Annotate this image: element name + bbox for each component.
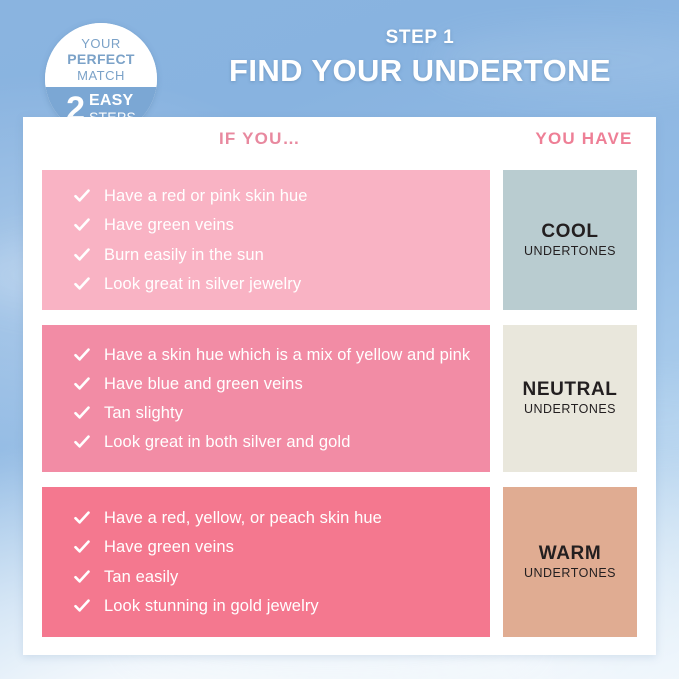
trait-item: Look great in silver jewelry xyxy=(74,274,474,294)
undertone-sublabel: UNDERTONES xyxy=(524,567,616,581)
checkmark-icon xyxy=(74,276,90,292)
undertone-sublabel: UNDERTONES xyxy=(524,245,616,259)
trait-item: Have a red, yellow, or peach skin hue xyxy=(74,508,474,528)
trait-item: Have blue and green veins xyxy=(74,374,474,394)
checkmark-icon xyxy=(74,539,90,555)
undertone-name: COOL xyxy=(541,222,598,243)
checkmark-icon xyxy=(74,247,90,263)
checkmark-icon xyxy=(74,569,90,585)
undertone-name: NEUTRAL xyxy=(523,380,618,401)
checkmark-icon xyxy=(74,598,90,614)
undertone-sublabel: UNDERTONES xyxy=(524,403,616,417)
column-header-row: IF YOU… YOU HAVE xyxy=(23,129,656,159)
undertone-swatch: WARM UNDERTONES xyxy=(503,487,637,637)
trait-item: Tan easily xyxy=(74,567,474,587)
trait-text: Look great in silver jewelry xyxy=(104,274,474,294)
page-title: FIND YOUR UNDERTONE xyxy=(185,54,655,88)
trait-text: Look great in both silver and gold xyxy=(104,432,474,452)
trait-item: Have a red or pink skin hue xyxy=(74,186,474,206)
trait-item: Look great in both silver and gold xyxy=(74,432,474,452)
checkmark-icon xyxy=(74,217,90,233)
trait-item: Have green veins xyxy=(74,537,474,557)
badge-perfect-label: PERFECT xyxy=(45,51,157,68)
checkmark-icon xyxy=(74,376,90,392)
trait-text: Have a skin hue which is a mix of yellow… xyxy=(104,345,474,365)
content-card: IF YOU… YOU HAVE Have a red or pink skin… xyxy=(23,117,656,655)
checkmark-icon xyxy=(74,188,90,204)
trait-text: Have a red, yellow, or peach skin hue xyxy=(104,508,474,528)
checkmark-icon xyxy=(74,434,90,450)
trait-text: Look stunning in gold jewelry xyxy=(104,596,474,616)
step-label: STEP 1 xyxy=(185,28,655,49)
undertone-row: Have a red, yellow, or peach skin hue Ha… xyxy=(42,487,637,637)
badge-match-label: MATCH xyxy=(45,68,157,83)
trait-item: Tan slighty xyxy=(74,403,474,423)
trait-item: Look stunning in gold jewelry xyxy=(74,596,474,616)
checkmark-icon xyxy=(74,405,90,421)
traits-panel: Have a red, yellow, or peach skin hue Ha… xyxy=(42,487,490,637)
traits-panel: Have a red or pink skin hue Have green v… xyxy=(42,170,490,310)
undertone-swatch: NEUTRAL UNDERTONES xyxy=(503,325,637,472)
badge-top-half: YOUR PERFECT MATCH xyxy=(45,23,157,87)
trait-text: Have blue and green veins xyxy=(104,374,474,394)
badge-your-label: YOUR xyxy=(45,36,157,51)
trait-text: Have green veins xyxy=(104,215,474,235)
trait-text: Have green veins xyxy=(104,537,474,557)
undertone-swatch: COOL UNDERTONES xyxy=(503,170,637,310)
trait-text: Burn easily in the sun xyxy=(104,245,474,265)
header-block: STEP 1 FIND YOUR UNDERTONE xyxy=(185,28,655,88)
traits-panel: Have a skin hue which is a mix of yellow… xyxy=(42,325,490,472)
column-header-if-you: IF YOU… xyxy=(219,129,301,149)
undertone-row: Have a skin hue which is a mix of yellow… xyxy=(42,325,637,472)
column-header-you-have: YOU HAVE xyxy=(517,129,651,149)
checkmark-icon xyxy=(74,510,90,526)
trait-item: Have green veins xyxy=(74,215,474,235)
checkmark-icon xyxy=(74,347,90,363)
infographic-root: YOUR PERFECT MATCH 2 EASY STEPS STEP 1 F… xyxy=(0,0,679,679)
undertone-row: Have a red or pink skin hue Have green v… xyxy=(42,170,637,310)
trait-text: Have a red or pink skin hue xyxy=(104,186,474,206)
trait-item: Burn easily in the sun xyxy=(74,245,474,265)
badge-easy-label: EASY xyxy=(89,93,136,110)
trait-item: Have a skin hue which is a mix of yellow… xyxy=(74,345,474,365)
undertone-name: WARM xyxy=(539,544,602,565)
trait-text: Tan slighty xyxy=(104,403,474,423)
trait-text: Tan easily xyxy=(104,567,474,587)
